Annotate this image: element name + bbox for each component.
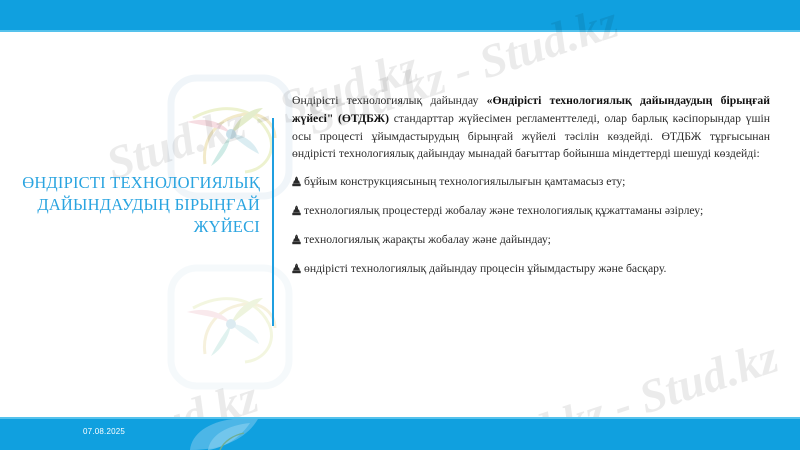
top-banner-bar bbox=[0, 0, 800, 30]
list-item-label: технологиялық процестерді жобалау және т… bbox=[303, 202, 770, 220]
list-item: өндірісті технологиялық дайындау процесі… bbox=[292, 260, 770, 278]
pawn-marker-icon bbox=[292, 204, 303, 220]
list-item-label: технологиялық жарақты жобалау және дайын… bbox=[303, 231, 770, 249]
list-item-label: бұйым конструкциясының технологиялылығын… bbox=[303, 173, 770, 191]
pawn-marker-icon bbox=[292, 262, 303, 278]
footer-date: 07.08.2025 bbox=[83, 427, 125, 436]
slide-canvas: Stud.kz - Stud.kz Stud.kz - Stud.kz Stud… bbox=[0, 0, 800, 450]
intro-paragraph-lead: Өндірісті технологиялық дайындау bbox=[292, 94, 487, 107]
pawn-marker-icon bbox=[292, 175, 303, 191]
body-content: Өндірісті технологиялық дайындау «Өндірі… bbox=[292, 92, 770, 289]
vertical-divider bbox=[272, 118, 274, 326]
list-item: технологиялық процестерді жобалау және т… bbox=[292, 202, 770, 220]
top-banner-accent-line bbox=[0, 30, 800, 32]
bullet-list: бұйым конструкциясының технологиялылығын… bbox=[292, 173, 770, 278]
list-item-label: өндірісті технологиялық дайындау процесі… bbox=[303, 260, 770, 278]
list-item: технологиялық жарақты жобалау және дайын… bbox=[292, 231, 770, 249]
slide-title: ӨНДІРІСТІ ТЕХНОЛОГИЯЛЫҚ ДАЙЫНДАУДЫҢ БІРЫ… bbox=[20, 172, 260, 237]
list-item: бұйым конструкциясының технологиялылығын… bbox=[292, 173, 770, 191]
intro-paragraph: Өндірісті технологиялық дайындау «Өндірі… bbox=[292, 92, 770, 163]
pawn-marker-icon bbox=[292, 233, 303, 249]
logo-watermark-secondary-icon bbox=[165, 262, 295, 392]
